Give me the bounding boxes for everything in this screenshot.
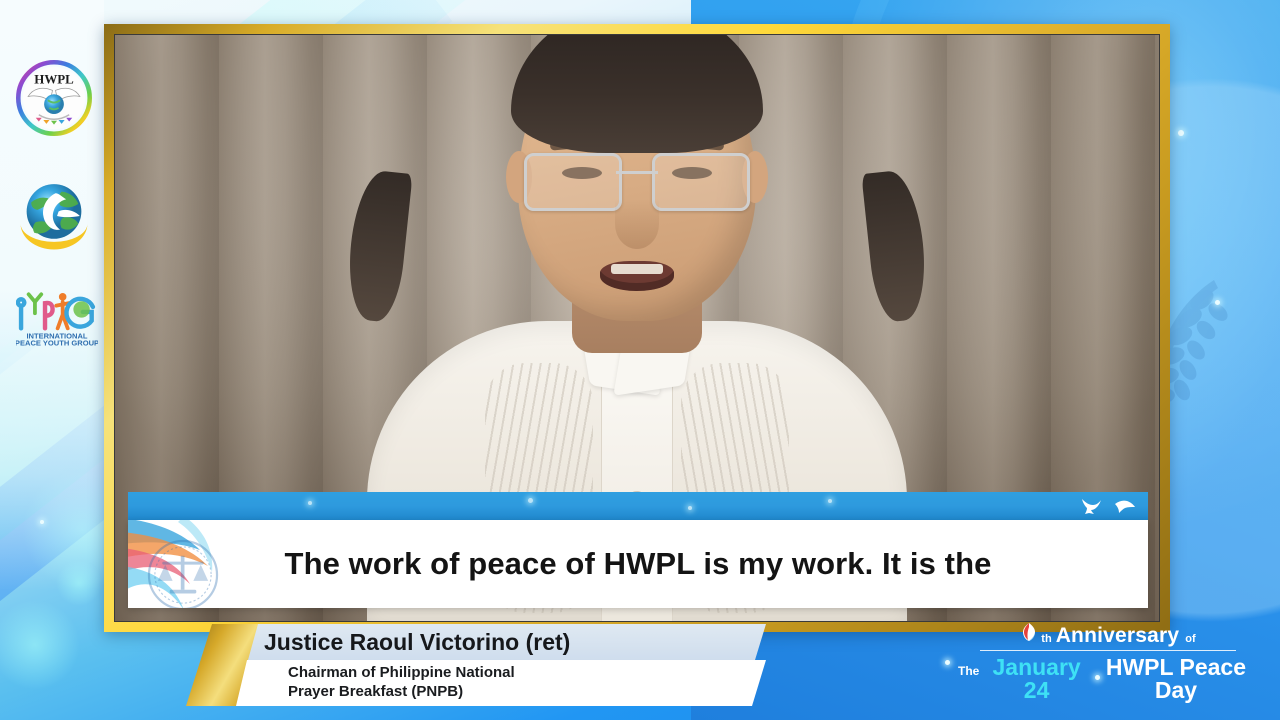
lens-left (524, 153, 622, 211)
lower-third-role-bar: Chairman of Philippine National Prayer B… (236, 660, 766, 706)
anniversary-ordinal: th (1041, 634, 1051, 645)
anniversary-of: of (1185, 634, 1195, 645)
speaker-role-line1: Chairman of Philippine National (288, 664, 766, 683)
dove-icons-group (1080, 496, 1136, 514)
sparkle (828, 499, 832, 503)
mouth (600, 261, 674, 291)
anniversary-badge: th Anniversary of The January 24 HWPL Pe… (958, 622, 1258, 702)
speaker-name: Justice Raoul Victorino (ret) (264, 629, 570, 656)
speaker-role-line2: Prayer Breakfast (PNPB) (288, 683, 766, 702)
subtitle-text-box: The work of peace of HWPL is my work. It… (128, 520, 1148, 608)
lens-right (652, 153, 750, 211)
ipyg-label-line2: PEACE YOUTH GROUP (16, 338, 98, 346)
organization-logo-strip: HWPL (0, 0, 104, 720)
subtitle-header-bar (128, 492, 1148, 520)
sparkle (945, 660, 950, 665)
anniversary-line-1: th Anniversary of (958, 622, 1258, 646)
anniversary-number-icon (1020, 622, 1037, 642)
subtitle-text: The work of peace of HWPL is my work. It… (165, 546, 1112, 582)
anniversary-divider (980, 650, 1236, 651)
sparkle (1215, 300, 1220, 305)
sparkle (308, 501, 312, 505)
svg-text:HWPL: HWPL (34, 72, 74, 87)
sparkle (528, 498, 533, 503)
broadcast-stage: HWPL (0, 0, 1280, 720)
lower-third-banner: Justice Raoul Victorino (ret) Chairman o… (186, 624, 766, 706)
hwpl-logo: HWPL (16, 60, 92, 136)
teeth (611, 264, 663, 274)
dove-icon (1114, 496, 1136, 514)
anniversary-date: January 24 (984, 656, 1089, 702)
hair (511, 34, 763, 153)
subtitle-panel: The work of peace of HWPL is my work. It… (128, 492, 1148, 608)
sparkle (688, 506, 692, 510)
anniversary-day-label: HWPL Peace Day (1094, 656, 1258, 702)
ipyg-logo: INTERNATIONAL PEACE YOUTH GROUP (16, 288, 98, 346)
dove-icon (1080, 496, 1102, 514)
iwpg-logo (16, 178, 92, 254)
sparkle (1178, 130, 1184, 136)
anniversary-the: The (958, 665, 979, 677)
lower-third-name-bar: Justice Raoul Victorino (ret) (248, 624, 766, 660)
glasses-bridge (616, 171, 658, 174)
nose (615, 199, 659, 249)
anniversary-word: Anniversary (1056, 625, 1180, 646)
anniversary-line-2: The January 24 HWPL Peace Day (958, 656, 1258, 702)
